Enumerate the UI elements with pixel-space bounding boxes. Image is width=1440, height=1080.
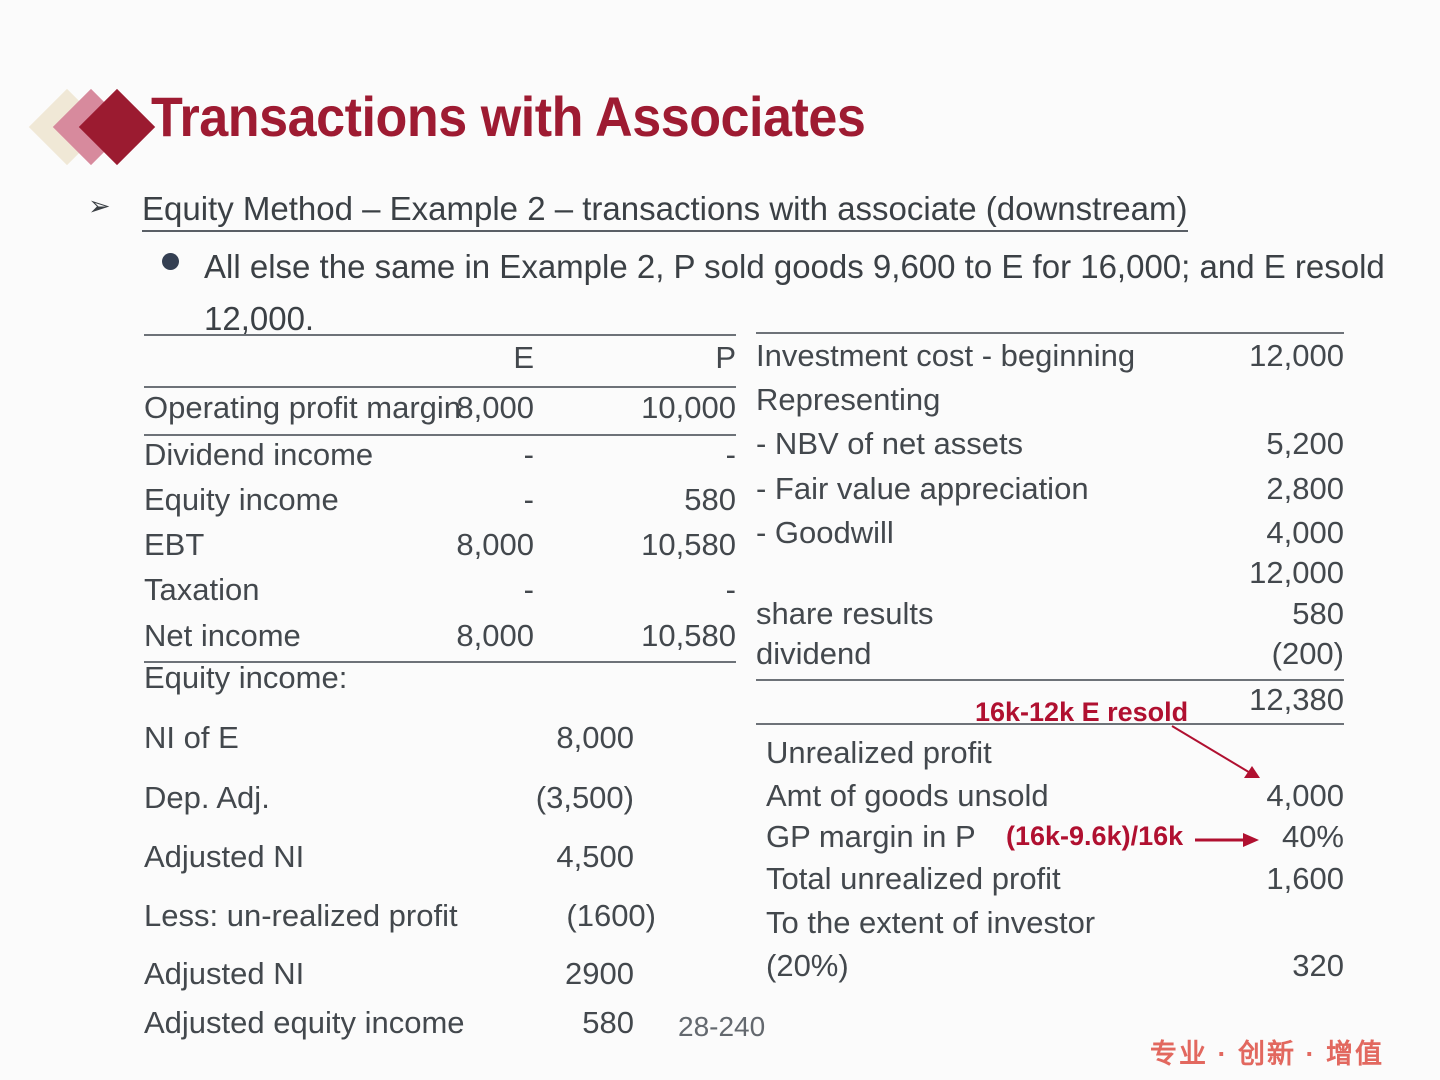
- list-item: Less: un-realized profit (1600): [144, 898, 736, 956]
- annotation-resold: 16k-12k E resold: [975, 697, 1188, 728]
- row-label: Taxation: [144, 572, 259, 608]
- table-row: - Goodwill 4,000: [756, 515, 1344, 560]
- row-value-e: -: [384, 482, 534, 518]
- row-value: 5,200: [1164, 426, 1344, 462]
- table-row: EBT 8,000 10,580: [144, 527, 736, 572]
- row-value-p: 10,000: [576, 390, 736, 426]
- page-title: Transactions with Associates: [151, 84, 865, 149]
- annotation-gp-margin: (16k-9.6k)/16k: [1006, 821, 1183, 852]
- row-value-p: 580: [576, 482, 736, 518]
- row-value: 1,600: [1164, 861, 1344, 897]
- row-value: (200): [1164, 636, 1344, 672]
- bullet-level2-text: All else the same in Example 2, P sold g…: [204, 241, 1404, 345]
- row-value-e: -: [384, 437, 534, 473]
- list-item: Adjusted equity income 580: [144, 1005, 736, 1063]
- row-label: Investment cost - beginning: [756, 338, 1135, 374]
- table-row: - NBV of net assets 5,200: [756, 426, 1344, 471]
- row-label: Amt of goods unsold: [766, 778, 1049, 814]
- table-row: - Fair value appreciation 2,800: [756, 471, 1344, 516]
- table-header-row: E P: [144, 340, 736, 385]
- diamond-logo-icon: [38, 88, 158, 168]
- table-rule-top: [144, 334, 736, 336]
- row-label: Dividend income: [144, 437, 373, 473]
- row-value: 580: [504, 1005, 634, 1041]
- row-value-p: 10,580: [576, 527, 736, 563]
- table-row: Total unrealized profit 1,600: [766, 861, 1344, 903]
- row-value: 4,500: [504, 839, 634, 875]
- row-label: GP margin in P: [766, 819, 976, 855]
- row-value: (1600): [526, 898, 656, 934]
- row-value: 8,000: [504, 720, 634, 756]
- row-label: - Fair value appreciation: [756, 471, 1089, 507]
- row-label: Net income: [144, 618, 301, 654]
- annotation-arrow-horizontal-icon: [1195, 830, 1265, 850]
- row-value: 2,800: [1164, 471, 1344, 507]
- title-block: Transactions with Associates: [38, 84, 1038, 174]
- row-value-p: -: [576, 572, 736, 608]
- table-rule-under-opm: [144, 434, 736, 436]
- row-label: EBT: [144, 527, 204, 563]
- row-value: 12,000: [1164, 338, 1344, 374]
- row-label: share results: [756, 596, 933, 632]
- table-row: Taxation - -: [144, 572, 736, 617]
- table-row: dividend (200): [756, 636, 1344, 681]
- row-value: (3,500): [504, 780, 634, 816]
- row-label: dividend: [756, 636, 871, 672]
- dot-bullet-icon: [162, 253, 179, 270]
- row-label: Adjusted NI: [144, 956, 304, 992]
- table-row: Operating profit margin 8,000 10,000: [144, 390, 736, 435]
- page-number: 28-240: [678, 1011, 765, 1043]
- row-value-e: 8,000: [384, 618, 534, 654]
- row-label: Representing: [756, 382, 940, 418]
- row-label: Adjusted NI: [144, 839, 304, 875]
- section-heading: Equity income:: [144, 660, 347, 696]
- slide-canvas: Transactions with Associates ➢ Equity Me…: [0, 0, 1440, 1080]
- column-header-p: P: [576, 340, 736, 376]
- bullet-level1-text: Equity Method – Example 2 – transactions…: [142, 190, 1188, 232]
- row-label: Total unrealized profit: [766, 861, 1061, 897]
- row-value-e: 8,000: [384, 390, 534, 426]
- table-rule-above-total: [756, 679, 1344, 681]
- row-value-total: 12,380: [1164, 682, 1344, 718]
- table-row: (20%) 320: [766, 948, 1344, 990]
- row-label: To the extent of investor: [766, 905, 1095, 941]
- table-row: Net income 8,000 10,580: [144, 618, 736, 663]
- table-row: Equity income - 580: [144, 482, 736, 527]
- row-value-p: 10,580: [576, 618, 736, 654]
- table-row: Representing: [756, 382, 1344, 427]
- footer-tagline: 专业 · 创新 · 增值: [1150, 1032, 1384, 1071]
- chevron-bullet-icon: ➢: [88, 191, 111, 222]
- column-header-e: E: [384, 340, 534, 376]
- row-value-e: 8,000: [384, 527, 534, 563]
- annotation-arrow-diagonal-icon: [1170, 722, 1270, 792]
- row-label: - Goodwill: [756, 515, 894, 551]
- row-value: 2900: [504, 956, 634, 992]
- row-label: NI of E: [144, 720, 239, 756]
- list-item: NI of E 8,000: [144, 720, 736, 778]
- row-label: Dep. Adj.: [144, 780, 270, 816]
- row-value: 4,000: [1164, 515, 1344, 551]
- table-row: Dividend income - -: [144, 437, 736, 482]
- list-item: Dep. Adj. (3,500): [144, 780, 736, 838]
- row-value: 580: [1164, 596, 1344, 632]
- row-value-subtotal: 12,000: [1164, 555, 1344, 591]
- table-row: 12,000: [756, 555, 1344, 600]
- row-label: Unrealized profit: [766, 735, 992, 771]
- row-label: Adjusted equity income: [144, 1005, 465, 1041]
- table-row: share results 580: [756, 596, 1344, 641]
- row-label: Less: un-realized profit: [144, 898, 458, 934]
- section-heading-row: Equity income:: [144, 660, 736, 718]
- list-item: Adjusted NI 4,500: [144, 839, 736, 897]
- row-label: - NBV of net assets: [756, 426, 1023, 462]
- row-value-p: -: [576, 437, 736, 473]
- table-row: To the extent of investor: [766, 905, 1344, 947]
- row-label: Equity income: [144, 482, 339, 518]
- row-label: (20%): [766, 948, 849, 984]
- table-rule-under-header: [144, 386, 736, 388]
- row-value-e: -: [384, 572, 534, 608]
- table-rule-top: [756, 332, 1344, 334]
- row-value: 320: [1164, 948, 1344, 984]
- table-row: Investment cost - beginning 12,000: [756, 338, 1344, 383]
